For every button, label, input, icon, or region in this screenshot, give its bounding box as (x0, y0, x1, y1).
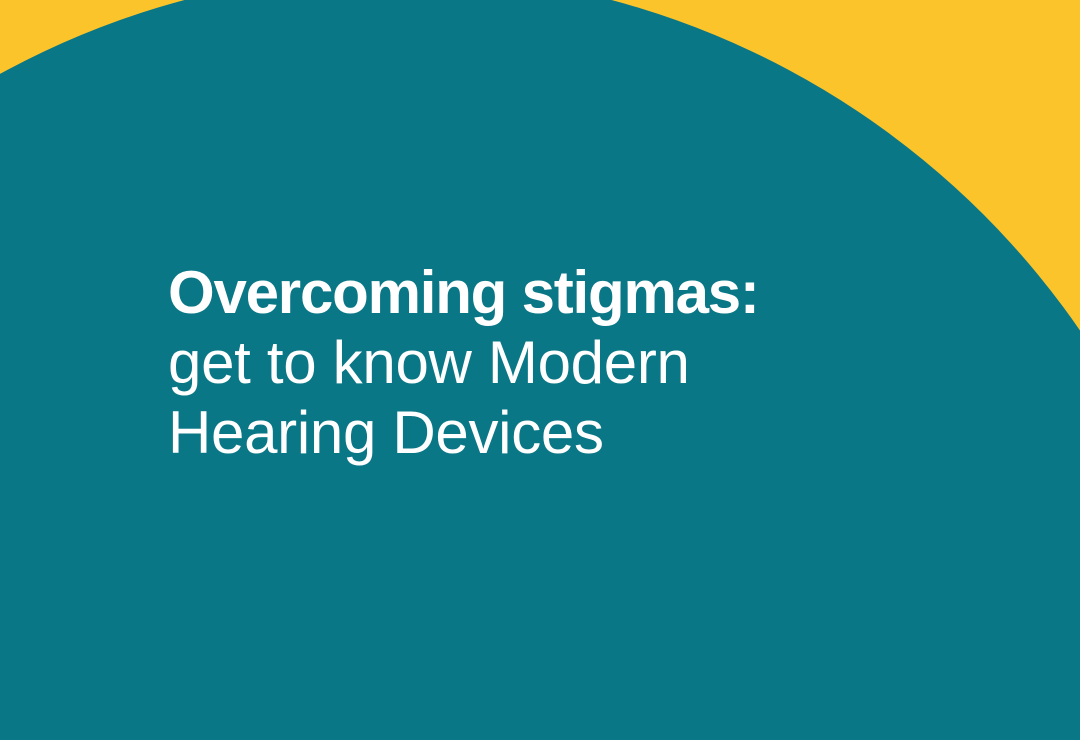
headline-line-1: Overcoming stigmas: (168, 258, 988, 328)
page-title: Overcoming stigmas: get to know Modern H… (168, 258, 988, 468)
headline-line-2: get to know Modern (168, 328, 988, 398)
headline-line-3: Hearing Devices (168, 398, 988, 468)
slide-canvas: Overcoming stigmas: get to know Modern H… (0, 0, 1080, 740)
